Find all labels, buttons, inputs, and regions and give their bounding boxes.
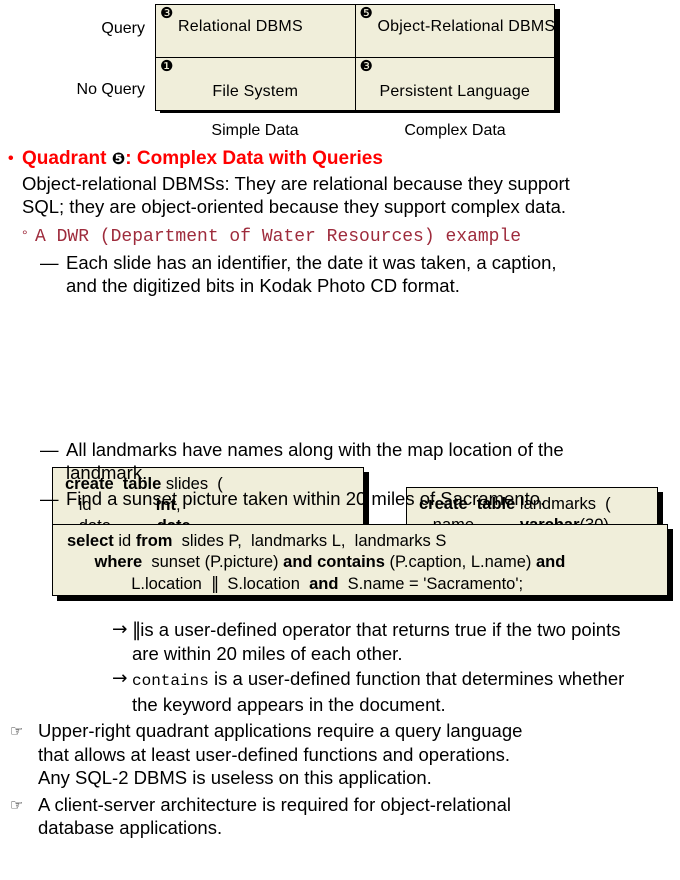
dash-line-1: All landmarks have names along with the … [66, 439, 564, 460]
dash-line-2: landmark. [66, 462, 147, 483]
quadrant-table-wrapper: ❸ Relational DBMS ❺ Object-Relational DB… [155, 4, 555, 108]
dwr-example-bullet: ° A DWR (Department of Water Resources) … [22, 226, 680, 248]
dwr-example-text: A DWR (Department of Water Resources) ex… [35, 227, 521, 247]
row-label-no-query: No Query [10, 81, 145, 99]
sql-select-field: id [114, 532, 136, 550]
arrow-line-1: is a user-defined operator that returns … [140, 619, 620, 640]
quadrant-marker-1: ❶ [160, 59, 173, 74]
heading-suffix: : Complex Data with Queries [125, 148, 383, 169]
conclusion-item-query-language: ☞ Upper-right quadrant applications requ… [10, 719, 670, 790]
arrow-line-2: are within 20 miles of each other. [132, 643, 402, 664]
intro-line-1: Object-relational DBMSs: They are relati… [22, 173, 570, 194]
conclusion-line-3: Any SQL-2 DBMS is useless on this applic… [38, 767, 432, 788]
conclusion-item-client-server: ☞ A client-server architecture is requir… [10, 793, 670, 840]
em-dash-icon: — [40, 438, 59, 461]
arrow-item-text: contains is a user-defined function that… [132, 667, 680, 716]
row-label-query: Query [10, 20, 145, 38]
sql-name-predicate: S.name = 'Sacramento'; [338, 575, 523, 593]
quadrant-marker-3: ❸ [360, 59, 373, 74]
dash-item-find-sunset: — Find a sunset picture taken within 20 … [40, 487, 680, 510]
em-dash-icon: — [40, 487, 59, 510]
dash-item-text: Find a sunset picture taken within 20 mi… [66, 487, 680, 510]
dash-item-text: Each slide has an identifier, the date i… [66, 251, 680, 297]
dash-line-1: Each slide has an identifier, the date i… [66, 252, 557, 273]
sql-keyword-and-1: and [283, 553, 312, 571]
dash-item-landmarks-description: — All landmarks have names along with th… [40, 438, 680, 484]
sql-keyword-select: select [67, 532, 114, 550]
arrow-item-text: ‖is a user-defined operator that returns… [132, 618, 680, 665]
sql-keyword-and-2: and [536, 553, 565, 571]
quadrant-label-object-relational-dbms: Object-Relational DBMS [378, 18, 556, 36]
quadrant-label-file-system: File System [156, 83, 355, 101]
intro-line-2: SQL; they are object-oriented because th… [22, 196, 566, 217]
col-label-complex-data: Complex Data [355, 122, 555, 140]
conclusion-text: A client-server architecture is required… [38, 793, 670, 840]
arrow-line-1: is a user-defined function that determin… [209, 668, 624, 689]
sql-keyword-where: where [95, 553, 143, 571]
col-label-simple-data: Simple Data [155, 122, 355, 140]
sql-keyword-and-3: and [309, 575, 338, 593]
heading-quadrant-marker: ❺ [112, 149, 126, 168]
pointing-hand-icon: ☞ [10, 794, 23, 818]
conclusion-line-2: that allows at least user-defined functi… [38, 744, 510, 765]
parallel-bars-glyph: ‖ [132, 620, 140, 641]
select-query-code-block: select id from slides P, landmarks L, la… [0, 524, 680, 616]
sql-where-predicate-1: sunset (P.picture) [142, 553, 283, 571]
hollow-circle-icon: ° [22, 224, 28, 246]
section-heading-text: Quadrant ❺: Complex Data with Queries [22, 148, 383, 169]
sql-left-location: L.location [131, 575, 211, 593]
contains-term: contains [132, 672, 209, 690]
quadrant-marker-2: ❸ [160, 6, 173, 21]
arrow-item-contains-function: → contains is a user-defined function th… [112, 667, 680, 716]
sql-keyword-from: from [136, 532, 173, 550]
arrow-right-icon: → [112, 667, 128, 690]
quadrant-cell-persistent-language[interactable]: ❸ Persistent Language [355, 58, 555, 111]
quadrant-label-persistent-language: Persistent Language [356, 83, 555, 101]
dash-line-2: and the digitized bits in Kodak Photo CD… [66, 275, 460, 296]
quadrant-marker-4: ❺ [360, 6, 373, 21]
sql-right-location: S.location [218, 575, 309, 593]
quadrant-row-query: ❸ Relational DBMS ❺ Object-Relational DB… [156, 5, 555, 58]
arrow-line-2: the keyword appears in the document. [132, 694, 446, 715]
dash-item-slide-description: — Each slide has an identifier, the date… [40, 251, 680, 297]
code-box-select-query[interactable]: select id from slides P, landmarks L, la… [52, 524, 668, 596]
quadrant-label-relational-dbms: Relational DBMS [178, 18, 303, 36]
quadrant-cell-file-system[interactable]: ❶ File System [156, 58, 356, 111]
arrow-item-parallel-operator: → ‖is a user-defined operator that retur… [112, 618, 680, 665]
create-table-code-block: create table slides ( id int, date date,… [0, 297, 680, 435]
quadrant-cell-object-relational-dbms[interactable]: ❺ Object-Relational DBMS [355, 5, 555, 58]
arrow-right-icon: → [112, 618, 128, 641]
conclusion-line-1: Upper-right quadrant applications requir… [38, 720, 522, 741]
quadrant-cell-relational-dbms[interactable]: ❸ Relational DBMS [156, 5, 356, 58]
bullet-dot-icon: • [8, 148, 14, 170]
em-dash-icon: — [40, 251, 59, 274]
dash-item-text: All landmarks have names along with the … [66, 438, 680, 484]
sql-from-tables: slides P, landmarks L, landmarks S [172, 532, 446, 550]
quadrant-table: ❸ Relational DBMS ❺ Object-Relational DB… [155, 4, 555, 111]
heading-prefix: Quadrant [22, 148, 112, 169]
conclusion-text: Upper-right quadrant applications requir… [38, 719, 670, 790]
section-heading: • Quadrant ❺: Complex Data with Queries [8, 148, 680, 170]
dash-line-1: Find a sunset picture taken within 20 mi… [66, 488, 545, 509]
conclusion-line-1: A client-server architecture is required… [38, 794, 511, 815]
slide-body: • Quadrant ❺: Complex Data with Queries … [0, 148, 680, 840]
pointing-hand-icon: ☞ [10, 720, 23, 744]
intro-paragraph: Object-relational DBMSs: They are relati… [22, 172, 680, 218]
quadrant-row-no-query: ❶ File System ❸ Persistent Language [156, 58, 555, 111]
sql-contains-args: (P.caption, L.name) [385, 553, 536, 571]
sql-function-contains: contains [317, 553, 385, 571]
conclusion-line-2: database applications. [38, 817, 222, 838]
